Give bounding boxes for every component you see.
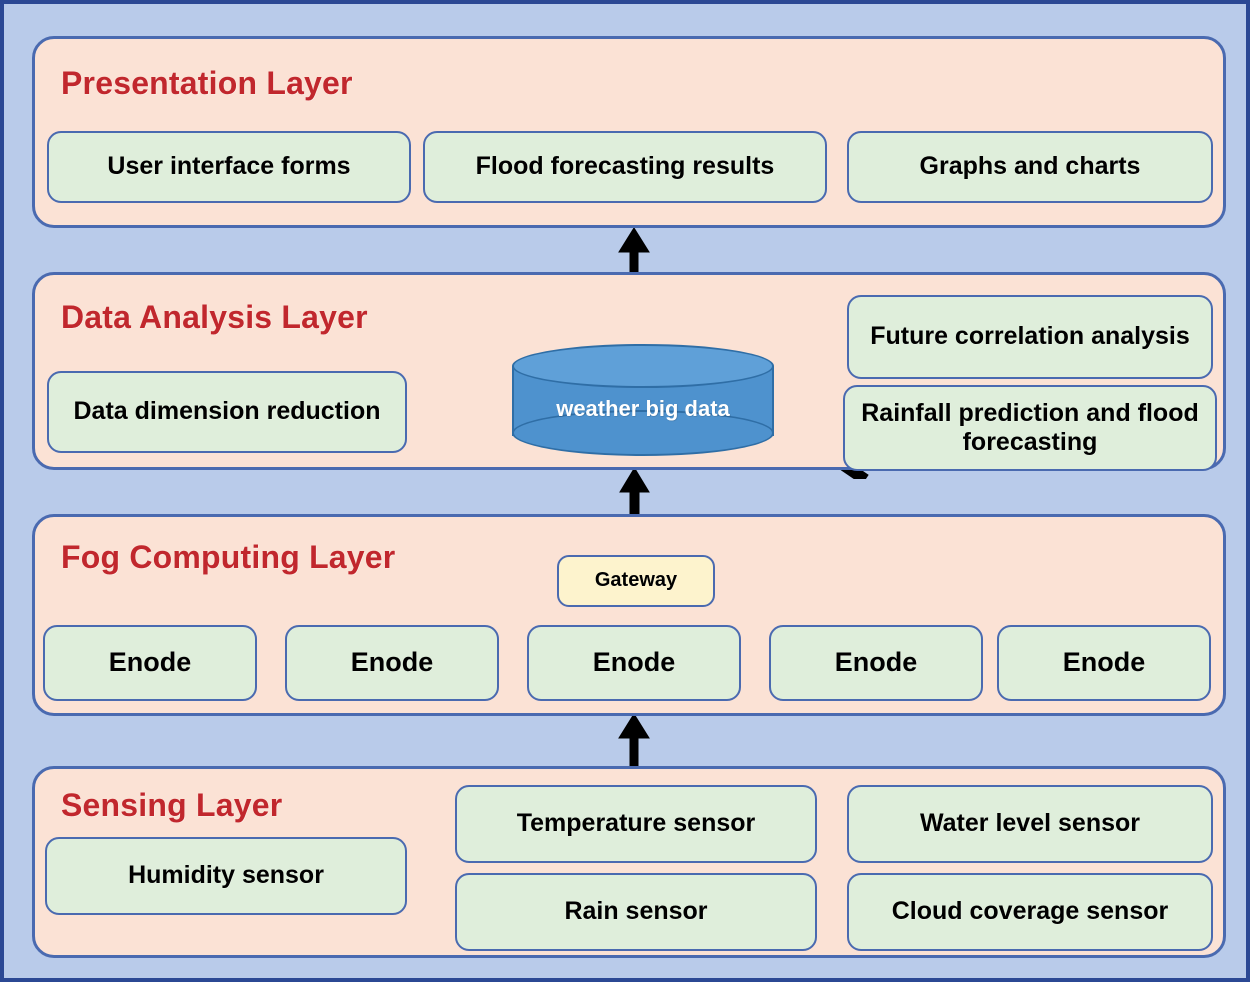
node-enode-5[interactable]: Enode (997, 625, 1211, 701)
node-cloud-coverage-sensor[interactable]: Cloud coverage sensor (847, 873, 1213, 951)
layer-sensing: Sensing Layer Humidity sensor Temperatur… (32, 766, 1226, 958)
node-enode-3[interactable]: Enode (527, 625, 741, 701)
node-temperature-sensor[interactable]: Temperature sensor (455, 785, 817, 863)
node-enode-1[interactable]: Enode (43, 625, 257, 701)
node-rain-sensor[interactable]: Rain sensor (455, 873, 817, 951)
node-water-level-sensor[interactable]: Water level sensor (847, 785, 1213, 863)
layer-title-presentation: Presentation Layer (61, 65, 353, 102)
layer-fog-computing: Fog Computing Layer Gateway Enode Enode … (32, 514, 1226, 716)
node-flood-forecasting-results[interactable]: Flood forecasting results (423, 131, 827, 203)
datastore-weather-big-data[interactable]: weather big data (512, 344, 774, 458)
cylinder-top-ellipse (512, 344, 774, 388)
layer-title-fog-computing: Fog Computing Layer (61, 539, 395, 576)
node-rainfall-prediction-flood-forecasting[interactable]: Rainfall prediction and flood forecastin… (843, 385, 1217, 471)
node-gateway[interactable]: Gateway (557, 555, 715, 607)
layer-presentation: Presentation Layer User interface forms … (32, 36, 1226, 228)
node-data-dimension-reduction[interactable]: Data dimension reduction (47, 371, 407, 453)
layer-title-data-analysis: Data Analysis Layer (61, 299, 368, 336)
node-user-interface-forms[interactable]: User interface forms (47, 131, 411, 203)
node-enode-2[interactable]: Enode (285, 625, 499, 701)
node-future-correlation-analysis[interactable]: Future correlation analysis (847, 295, 1213, 379)
architecture-diagram: Presentation Layer User interface forms … (0, 0, 1250, 982)
node-enode-4[interactable]: Enode (769, 625, 983, 701)
node-graphs-and-charts[interactable]: Graphs and charts (847, 131, 1213, 203)
cylinder-label: weather big data (512, 396, 774, 422)
node-humidity-sensor[interactable]: Humidity sensor (45, 837, 407, 915)
layer-title-sensing: Sensing Layer (61, 787, 282, 824)
